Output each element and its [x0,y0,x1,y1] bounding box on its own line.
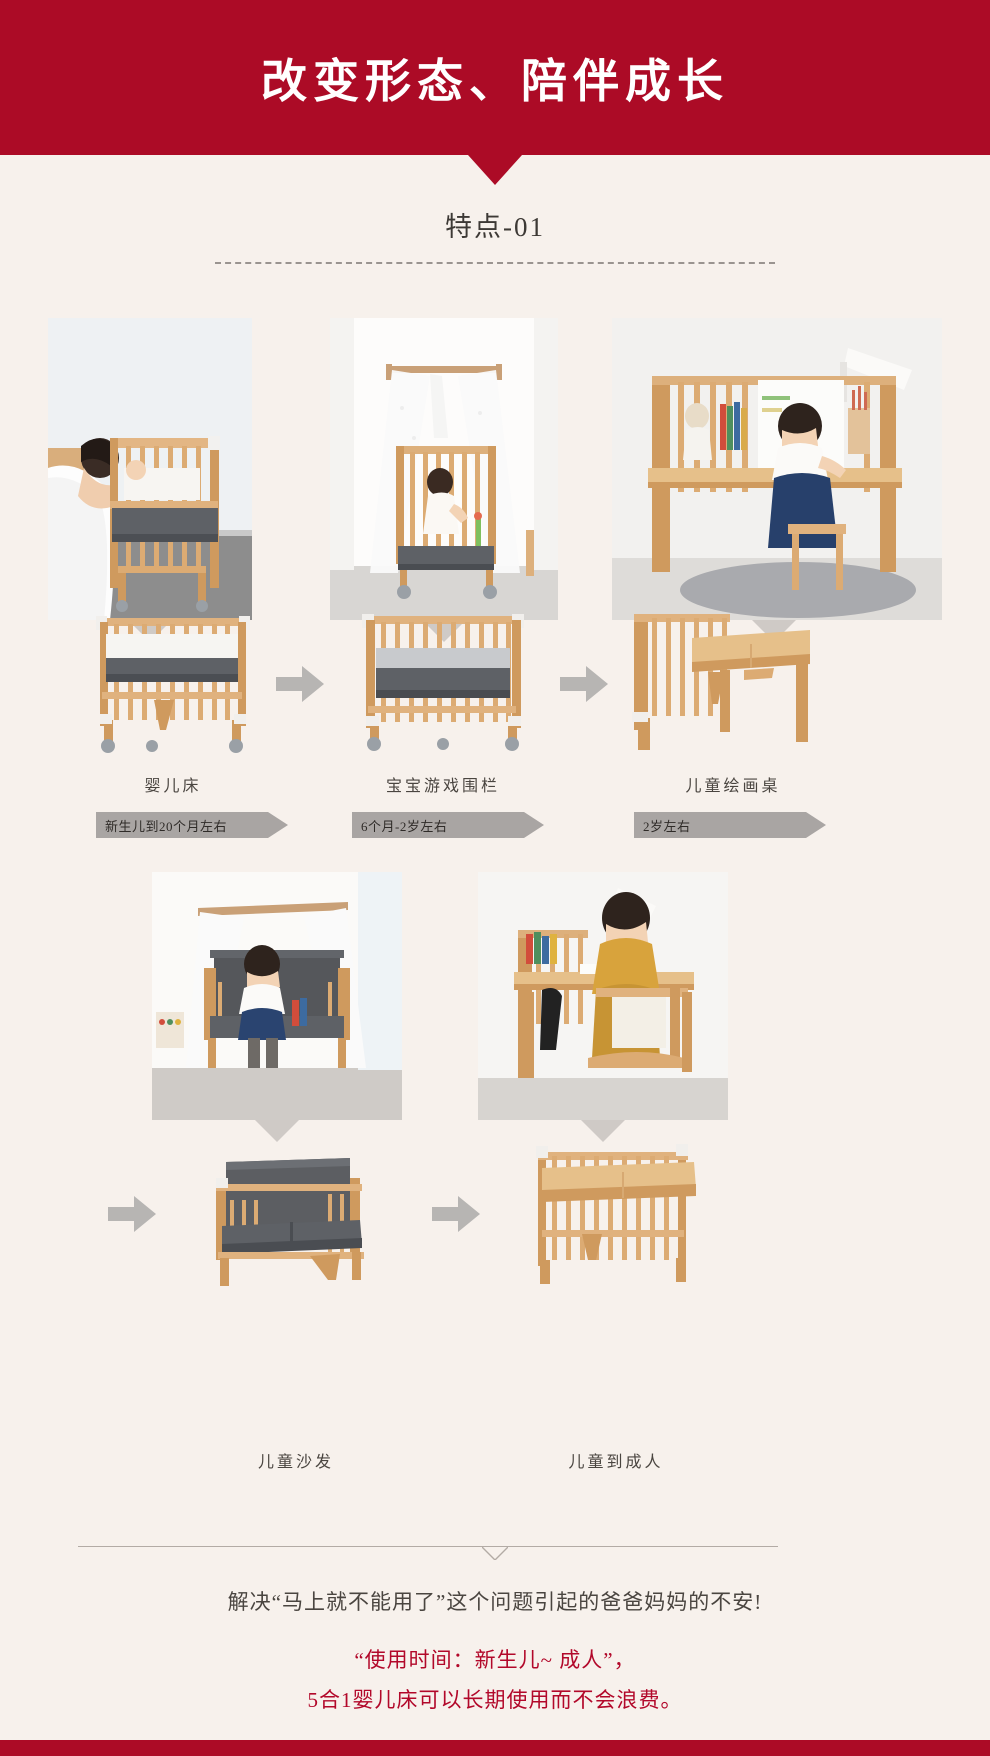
stage-name-4: 儿童沙发 [200,1448,392,1472]
illustration-adult-desk-graphic [518,1144,714,1290]
step-arrow-icon-3 [108,1196,156,1232]
stage-name-2: 宝宝游戏围栏 [330,772,556,796]
illustration-playpen-graphic [350,608,536,756]
stage-name-1: 婴儿床 [60,772,286,796]
header-notch-triangle [468,155,522,185]
photo-drawing-desk [612,318,942,620]
photo-kids-sofa-graphic [152,872,402,1120]
photo-child-to-adult-desk [478,872,728,1120]
illustration-drawing-desk-graphic [624,608,818,756]
product-detail-page: 改变形态、陪伴成长 特点-01 [0,0,990,1756]
illustration-baby-crib [82,608,264,756]
bottom-divider [78,1546,778,1547]
age-banner-1: 新生儿到20个月左右 [96,812,268,838]
photo-notch-4 [255,1120,299,1142]
footer-line-2: “使用时间：新生儿~ 成人”， [0,1644,990,1674]
photo-child-to-adult-desk-graphic [478,872,728,1120]
photo-playpen-canopy [330,318,558,620]
photo-playpen-canopy-graphic [330,318,558,620]
footer-line-1: 解决“马上就不能用了”这个问题引起的爸爸妈妈的不安! [0,1586,990,1616]
footer-line-3: 5合1婴儿床可以长期使用而不会浪费。 [0,1684,990,1714]
photo-drawing-desk-graphic [612,318,942,620]
footer-bar [0,1740,990,1756]
illustration-kids-sofa-graphic [200,1148,392,1290]
page-header: 改变形态、陪伴成长 [0,0,990,155]
section-label: 特点-01 [0,205,990,244]
stage-name-3: 儿童绘画桌 [620,772,846,796]
stage-name-5: 儿童到成人 [518,1448,714,1472]
section-divider-dashed [215,262,775,264]
age-banner-3: 2岁左右 [634,812,806,838]
photo-notch-5 [581,1120,625,1142]
photo-newborn-crib-graphic [48,318,252,620]
step-arrow-icon-1 [276,666,324,702]
illustration-baby-crib-graphic [82,608,264,756]
illustration-adult-desk [518,1144,714,1290]
age-banner-2: 6个月-2岁左右 [352,812,524,838]
step-arrow-icon-2 [560,666,608,702]
illustration-drawing-desk [624,608,818,756]
photo-kids-sofa [152,872,402,1120]
step-arrow-icon-4 [432,1196,480,1232]
illustration-playpen [350,608,536,756]
photo-newborn-crib [48,318,252,620]
illustration-kids-sofa [200,1148,392,1290]
chevron-down-icon [482,1547,508,1560]
page-title: 改变形态、陪伴成长 [261,45,729,111]
